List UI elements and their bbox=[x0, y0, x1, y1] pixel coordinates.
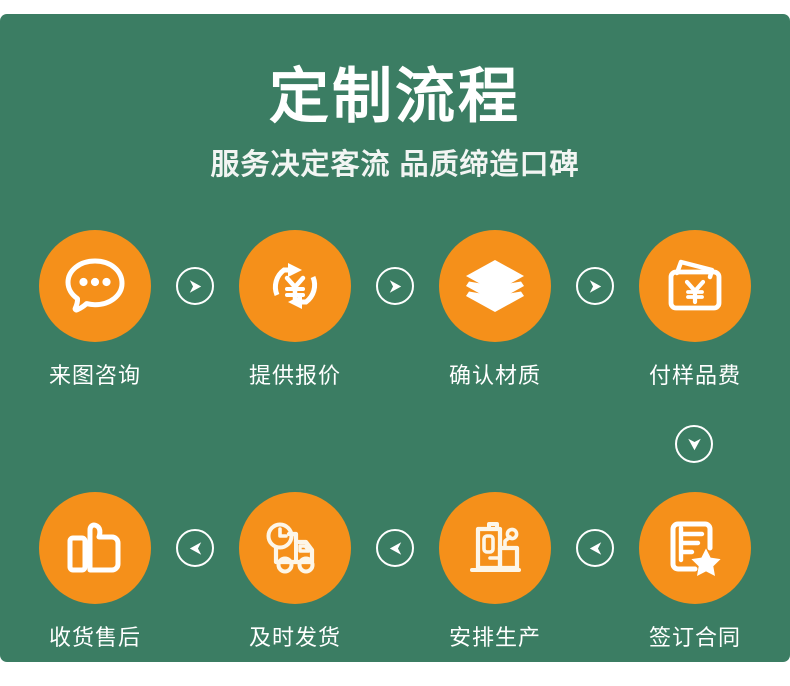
header-block: 定制流程 服务决定客流 品质缔造口碑 bbox=[0, 60, 790, 188]
flow-step-3[interactable]: 确认材质 bbox=[415, 230, 575, 390]
thumbs-up-icon bbox=[64, 519, 126, 577]
arrow-left-circle-icon bbox=[176, 529, 214, 567]
arrow-down-circle-icon bbox=[675, 425, 713, 463]
flow-step-5[interactable]: 签订合同 bbox=[615, 492, 775, 652]
arrow-right-circle-icon bbox=[376, 267, 414, 305]
flow-step-4[interactable]: 付样品费 bbox=[615, 230, 775, 390]
arrow-right-circle-icon bbox=[176, 267, 214, 305]
page-title: 定制流程 bbox=[0, 60, 790, 134]
flow-step-2-bubble[interactable] bbox=[239, 230, 351, 342]
flow-connector-3 bbox=[575, 230, 615, 342]
factory-machine-icon bbox=[464, 518, 526, 578]
flow-step-2-label: 提供报价 bbox=[249, 362, 341, 390]
contract-star-icon bbox=[665, 518, 725, 578]
flow-step-3-label: 确认材质 bbox=[449, 362, 541, 390]
flow-connector-1 bbox=[175, 230, 215, 342]
flow-row-bottom: 收货售后 bbox=[0, 492, 790, 662]
flow-step-8[interactable]: 收货售后 bbox=[15, 492, 175, 652]
flow-row-top: 来图咨询 bbox=[0, 230, 790, 405]
page-subtitle: 服务决定客流 品质缔造口碑 bbox=[0, 142, 790, 188]
customization-flow-infographic: 定制流程 服务决定客流 品质缔造口碑 来图咨询 bbox=[0, 0, 790, 686]
flow-step-2[interactable]: 提供报价 bbox=[215, 230, 375, 390]
arrow-left-circle-icon bbox=[376, 529, 414, 567]
arrow-right-circle-icon bbox=[576, 267, 614, 305]
truck-clock-icon bbox=[263, 519, 327, 577]
arrow-left-circle-icon bbox=[576, 529, 614, 567]
flow-step-8-bubble[interactable] bbox=[39, 492, 151, 604]
wallet-yuan-icon bbox=[664, 257, 726, 315]
flow-step-5-label: 签订合同 bbox=[649, 624, 741, 652]
flow-step-7-bubble[interactable] bbox=[239, 492, 351, 604]
flow-step-6-bubble[interactable] bbox=[439, 492, 551, 604]
green-panel: 定制流程 服务决定客流 品质缔造口碑 来图咨询 bbox=[0, 14, 790, 662]
flow-step-6[interactable]: 安排生产 bbox=[415, 492, 575, 652]
flow-step-7[interactable]: 及时发货 bbox=[215, 492, 375, 652]
flow-connector-2 bbox=[375, 230, 415, 342]
flow-step-1[interactable]: 来图咨询 bbox=[15, 230, 175, 390]
flow-step-1-bubble[interactable] bbox=[39, 230, 151, 342]
flow-step-6-label: 安排生产 bbox=[449, 624, 541, 652]
flow-step-4-label: 付样品费 bbox=[649, 362, 741, 390]
flow-step-1-label: 来图咨询 bbox=[49, 362, 141, 390]
flow-connector-down bbox=[674, 424, 714, 464]
chat-bubble-dots-icon bbox=[64, 257, 126, 315]
flow-connector-5 bbox=[575, 492, 615, 604]
layers-stack-icon bbox=[463, 258, 527, 314]
flow-connector-6 bbox=[375, 492, 415, 604]
flow-step-7-label: 及时发货 bbox=[249, 624, 341, 652]
refresh-yuan-icon bbox=[264, 255, 326, 317]
flow-step-3-bubble[interactable] bbox=[439, 230, 551, 342]
flow-step-8-label: 收货售后 bbox=[49, 624, 141, 652]
flow-step-4-bubble[interactable] bbox=[639, 230, 751, 342]
flow-connector-7 bbox=[175, 492, 215, 604]
flow-step-5-bubble[interactable] bbox=[639, 492, 751, 604]
